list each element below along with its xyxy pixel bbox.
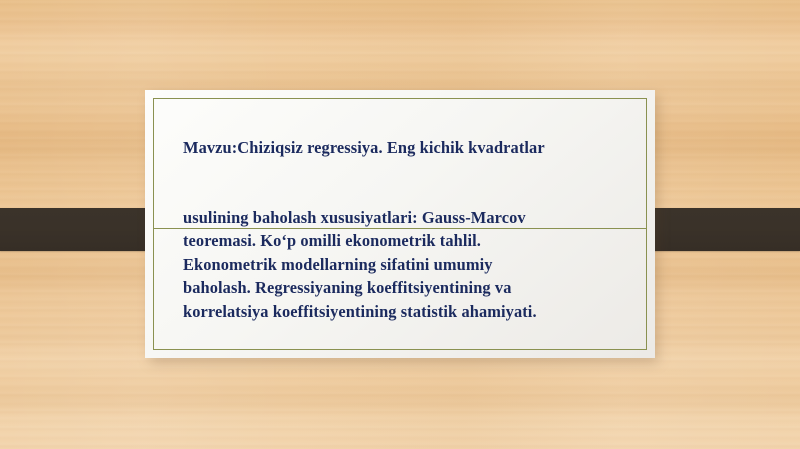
slide-title-line: Mavzu:Chiziqsiz regressiya. Eng kichik k… (183, 136, 629, 160)
slide-text-block: Mavzu:Chiziqsiz regressiya. Eng kichik k… (183, 112, 629, 347)
presentation-slide: Mavzu:Chiziqsiz regressiya. Eng kichik k… (0, 0, 800, 449)
content-card: Mavzu:Chiziqsiz regressiya. Eng kichik k… (145, 90, 655, 358)
slide-body-text: usulining baholash xususiyatlari: Gauss-… (183, 206, 629, 324)
